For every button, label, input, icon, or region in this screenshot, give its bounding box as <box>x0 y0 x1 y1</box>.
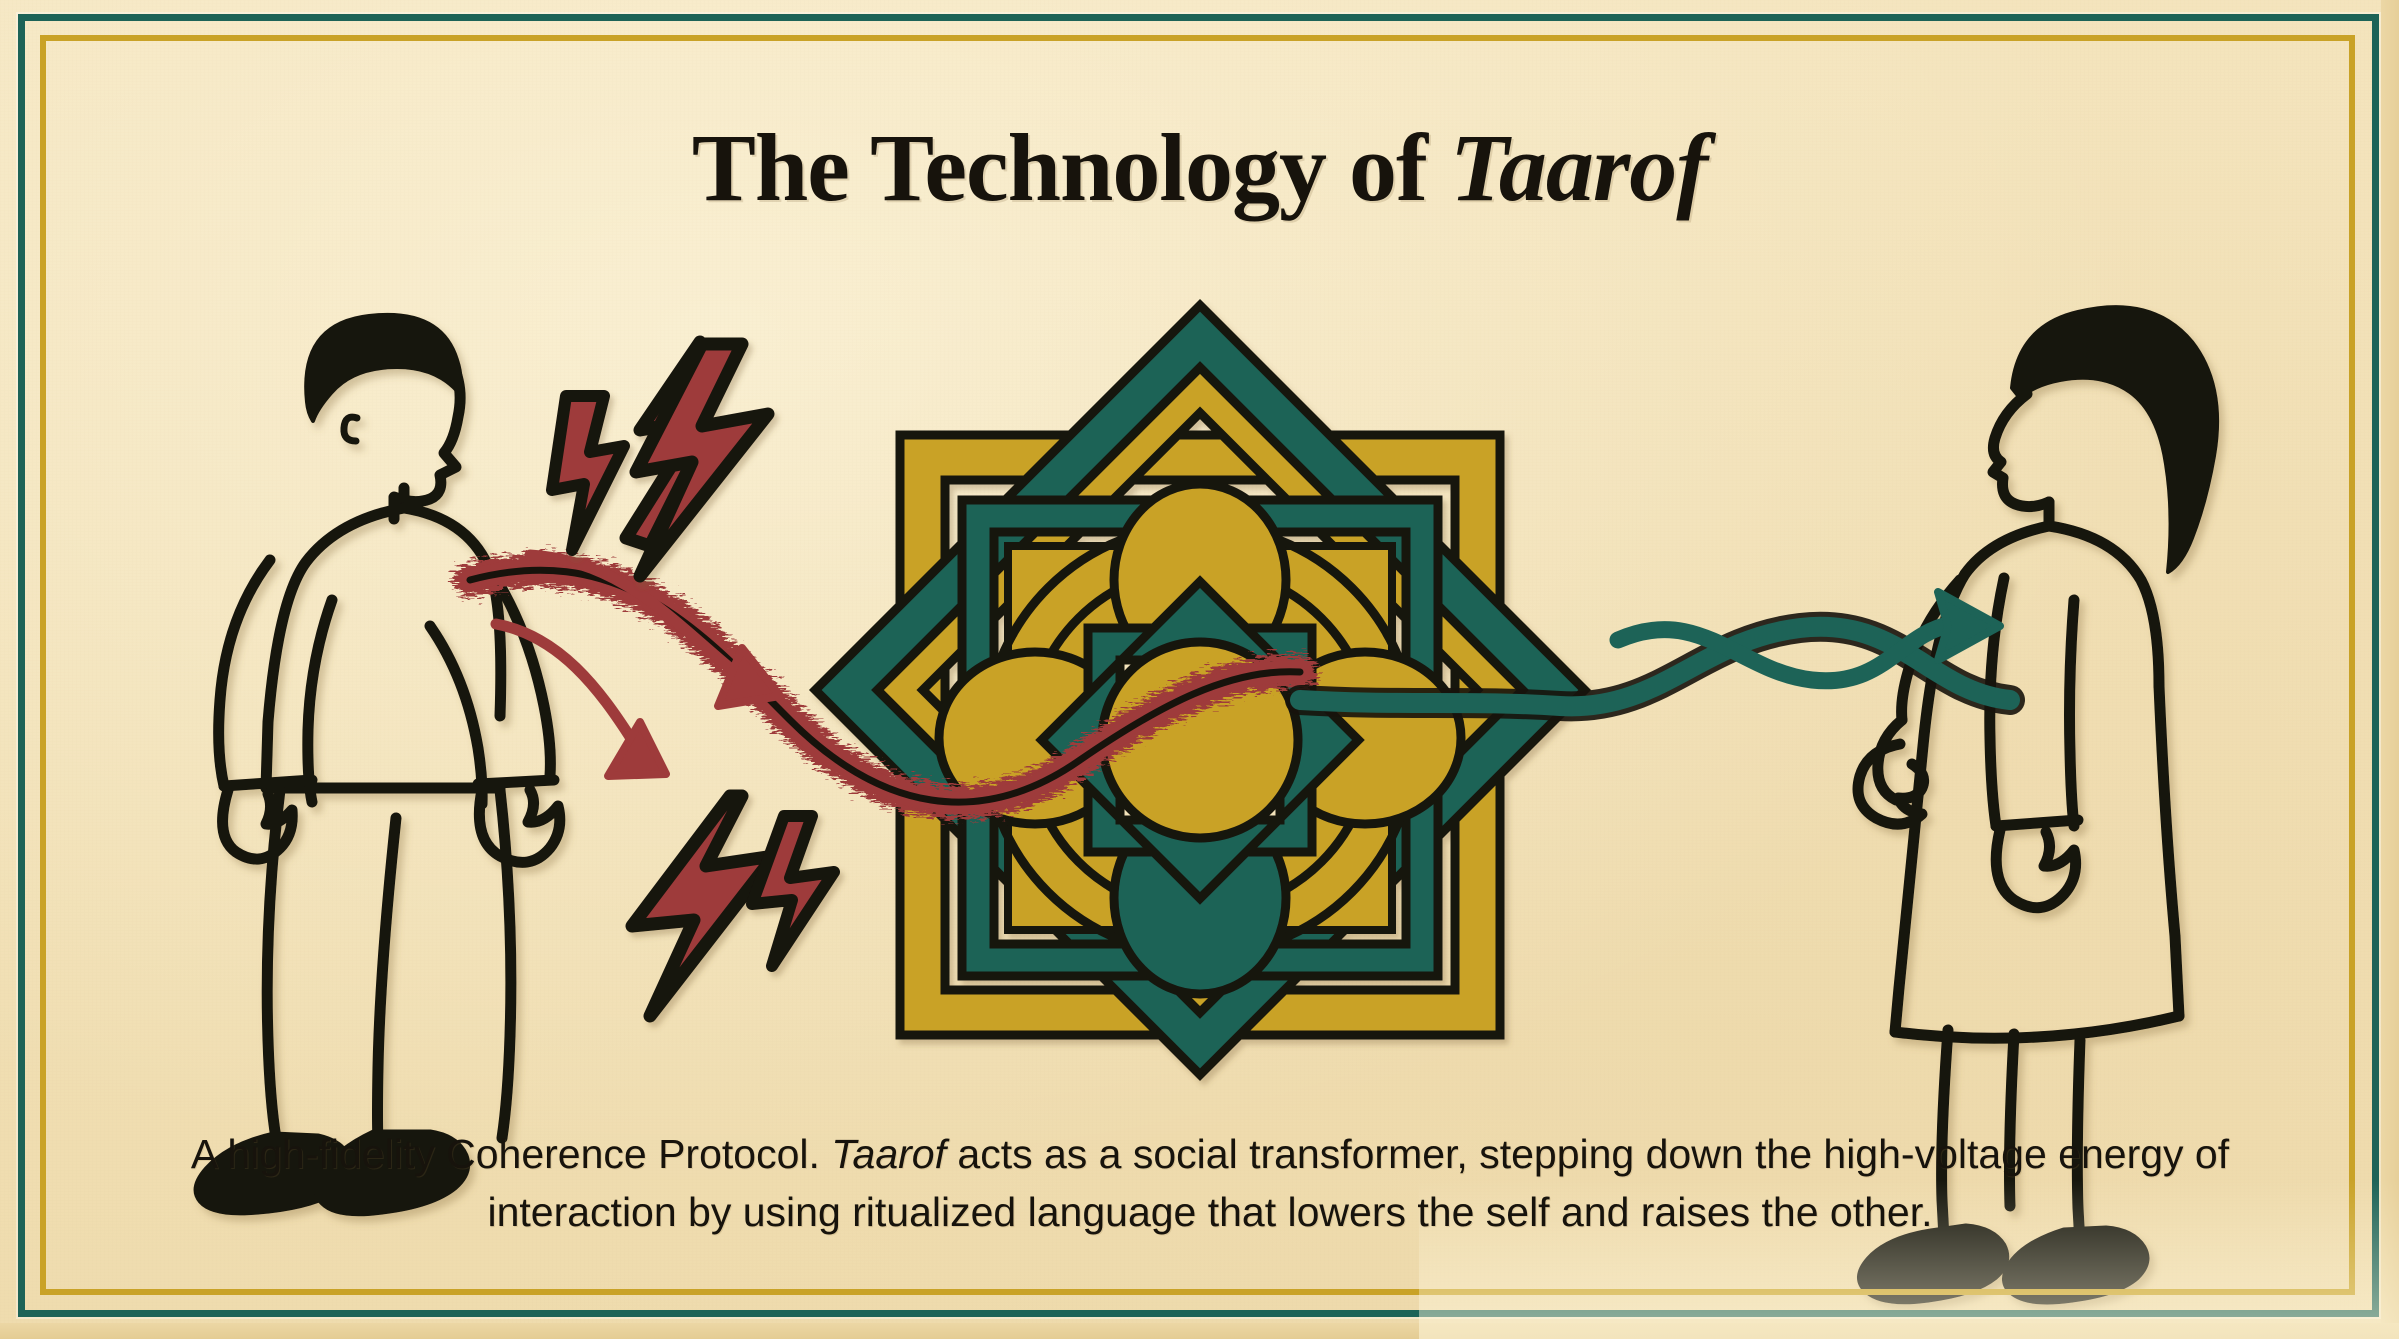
title-prefix: The Technology of <box>692 114 1450 221</box>
caption-part-one: A high-fidelity Coherence Protocol. <box>191 1131 831 1177</box>
edge-strip-bottom <box>0 1323 2399 1339</box>
frame-inner-border <box>40 35 2355 1295</box>
caption-italic-term: Taarof <box>831 1131 946 1177</box>
page-title: The Technology of Taarof <box>0 112 2399 223</box>
poster-canvas: The Technology of Taarof A high-fidelity… <box>0 0 2399 1339</box>
caption-text: A high-fidelity Coherence Protocol. Taar… <box>160 1125 2260 1241</box>
title-italic-term: Taarof <box>1450 114 1707 221</box>
